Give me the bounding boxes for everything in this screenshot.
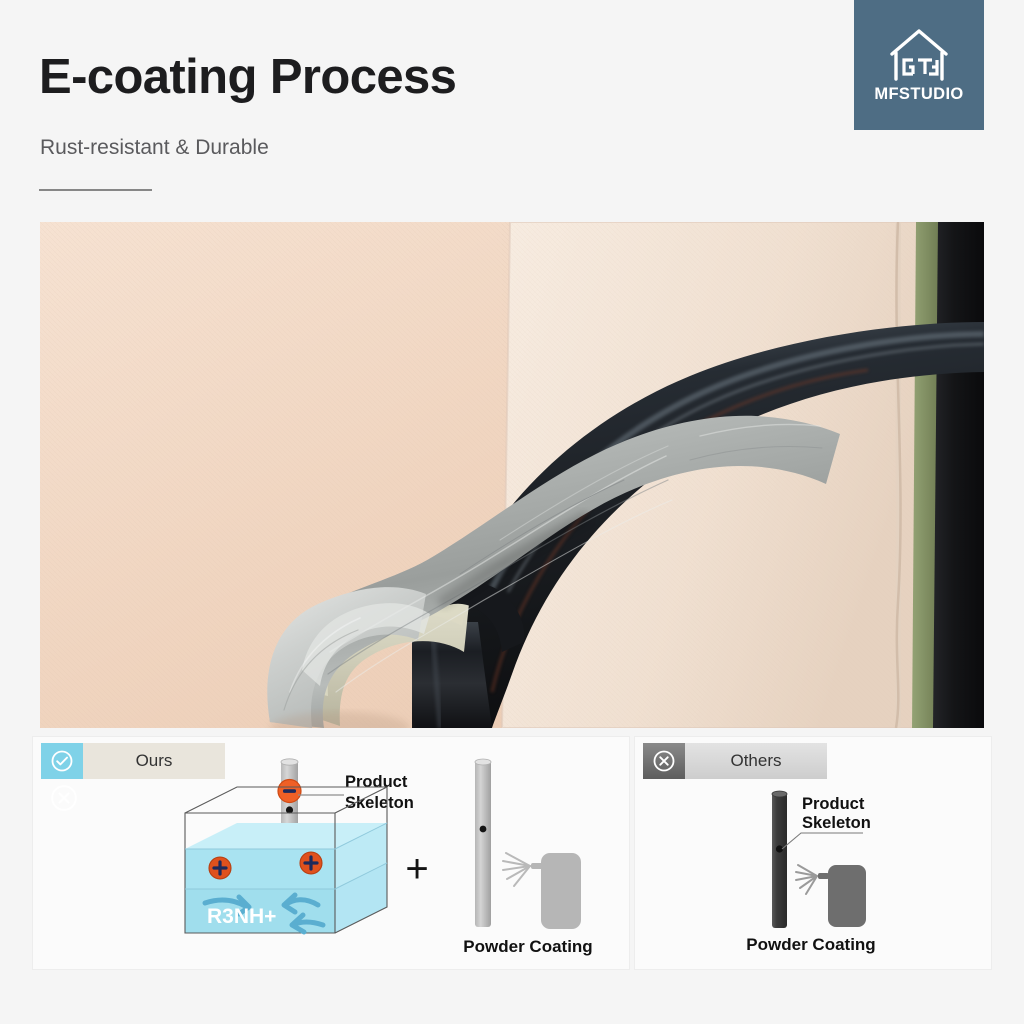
others-skeleton-label-line1: Product [802,795,865,813]
ours-plus-sign: + [405,847,428,891]
others-powder-coating-label: Powder Coating [746,935,875,954]
page-subtitle: Rust-resistant & Durable [40,136,269,160]
hero-illustration [40,222,984,728]
comparison-row: Ours [32,736,992,970]
page-title: E-coating Process [39,53,456,102]
positive-charge [209,857,231,879]
page-header: E-coating Process Rust-resistant & Durab… [0,0,1024,222]
comparison-panel-ours: Ours [32,736,630,970]
ours-ecoating-diagram: Product Skeleton [33,737,630,970]
ours-solution-label: R3NH+ [207,905,276,928]
house-logo-icon [888,27,950,83]
hero-product-image: Close-up of a chair armrest with protect… [40,222,984,728]
ours-skeleton-label-line1: Product [345,773,408,791]
brand-name: MFSTUDIO [874,85,963,104]
brand-logo: MFSTUDIO [854,0,984,130]
positive-charge [300,852,322,874]
others-skeleton-label-line2: Skeleton [802,814,871,832]
ours-powder-coating-label: Powder Coating [463,937,592,956]
others-powder-diagram: Product Skeleton Powder Coating [635,737,992,970]
comparison-panel-others: Others Product Skeleton [634,736,992,970]
title-underline-rule [39,189,152,191]
